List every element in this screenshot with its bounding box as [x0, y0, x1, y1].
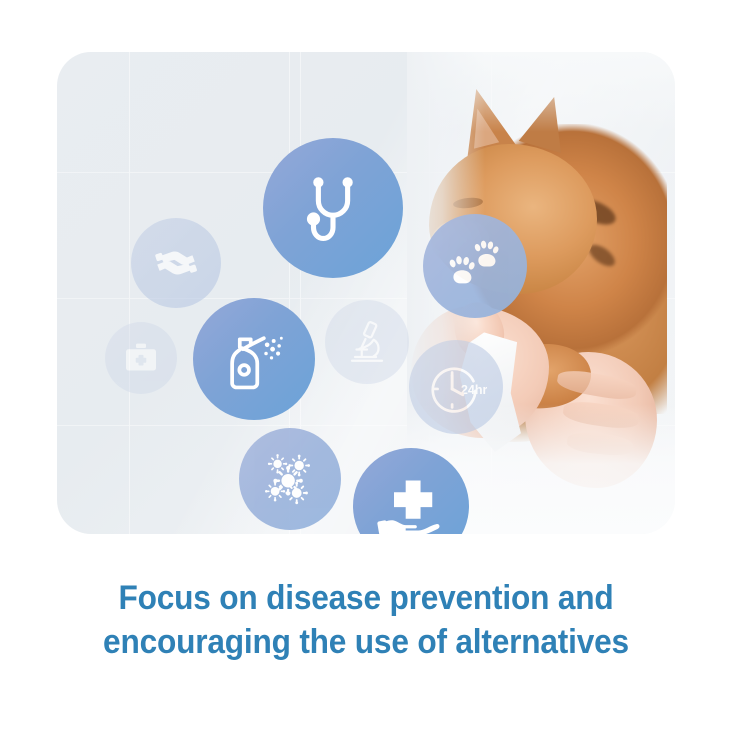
stethoscope-icon	[294, 169, 372, 247]
spray-bottle-icon	[219, 324, 289, 394]
icon-bubble-first-aid-kit	[105, 322, 177, 394]
clock-24hr-icon: 24hr.	[425, 356, 487, 418]
icon-bubble-clock-24hr: 24hr.	[409, 340, 503, 434]
icon-bubble-paw-prints	[423, 214, 527, 318]
first-aid-kit-icon	[121, 338, 161, 378]
icon-bubble-spray-bottle	[193, 298, 315, 420]
page-root: 24hr.	[0, 0, 732, 748]
icon-bubble-hand-washing	[131, 218, 221, 308]
caption-line-2: encouraging the use of alternatives	[26, 620, 707, 664]
clock-badge-label: 24hr.	[461, 383, 487, 397]
caption-line-1: Focus on disease prevention and	[26, 576, 707, 620]
infographic-hero-card: 24hr.	[57, 52, 675, 534]
virus-germs-icon	[261, 450, 319, 508]
washing-hands-icon	[151, 238, 201, 288]
icon-bubble-stethoscope	[263, 138, 403, 278]
icon-bubble-microscope	[325, 300, 409, 384]
hand-holding-medical-cross-icon	[377, 472, 445, 534]
microscope-icon	[343, 318, 391, 366]
icon-bubble-germs	[239, 428, 341, 530]
headline-caption: Focus on disease prevention and encourag…	[26, 576, 707, 664]
paw-prints-icon	[444, 235, 506, 297]
